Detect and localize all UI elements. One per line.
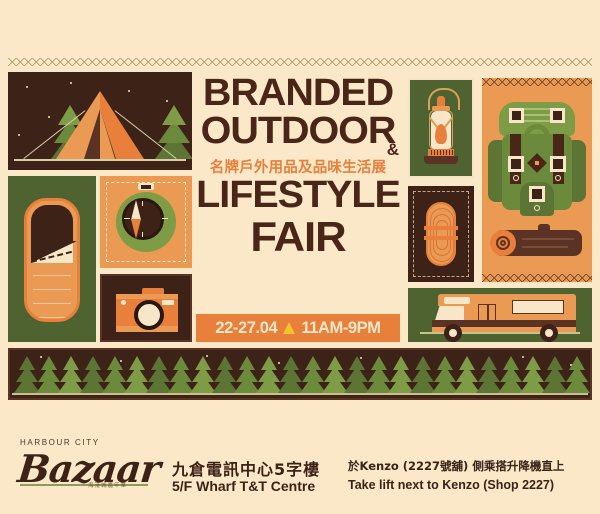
brand-chinese-name: 海港城嘉年華 — [88, 481, 127, 489]
footer-bar: HARBOUR CITY Bazaar 海港城嘉年華 九倉電訊中心5字樓 5/F… — [0, 404, 600, 514]
illustration-tent — [8, 72, 192, 170]
tent-door-flap — [100, 109, 115, 159]
compass-dial — [122, 198, 164, 240]
illustration-lantern — [408, 78, 474, 178]
illustration-sleeping-bag — [8, 176, 96, 342]
forest-silhouette-band — [8, 348, 592, 400]
directions-english: Take lift next to Kenzo (Shop 2227) — [348, 478, 554, 492]
headline-line-branded: BRANDED — [192, 76, 404, 111]
venue-address-chinese: 九倉電訊中心5字樓 — [172, 456, 320, 480]
buckle-icon — [508, 156, 524, 172]
buckle-icon — [509, 108, 524, 123]
tent-ground-line — [14, 159, 186, 161]
buckle-icon — [550, 156, 566, 172]
headline-line-outdoor: OUTDOOR — [192, 114, 404, 149]
illustration-rolled-mat — [408, 186, 474, 282]
pine-tree-icon — [154, 97, 192, 159]
venue-address-english: 5/F Wharf T&T Centre — [172, 478, 315, 494]
buckle-icon — [550, 108, 565, 123]
event-dates: 22-27.04 — [215, 319, 277, 338]
headline-block: BRANDED OUTDOOR & 名牌戶外用品及品味生活展 LIFESTYLE… — [196, 70, 400, 342]
buckle-icon — [529, 186, 545, 202]
top-zigzag-divider — [8, 58, 592, 66]
illustration-compass — [100, 176, 192, 268]
logo-underline — [20, 484, 148, 486]
headline-line-lifestyle: LIFESTYLE — [192, 178, 404, 213]
headline-line-fair: FAIR — [192, 218, 404, 257]
pine-tree-icon — [564, 351, 590, 393]
directions-chinese: 於Kenzo (2227號舖) 側乘搭升降機直上 — [348, 458, 564, 474]
camera-lens — [134, 300, 164, 330]
tent-triangle-icon — [283, 322, 295, 334]
illustration-camper-van — [408, 288, 592, 342]
illustration-backpack — [482, 78, 592, 282]
date-time-banner: 22-27.04 11AM-9PM — [196, 314, 400, 342]
illustration-camera — [100, 274, 192, 342]
poster-canvas: BRANDED OUTDOOR & 名牌戶外用品及品味生活展 LIFESTYLE… — [0, 0, 600, 514]
lantern-flame — [435, 124, 447, 144]
event-hours: 11AM-9PM — [301, 319, 380, 338]
